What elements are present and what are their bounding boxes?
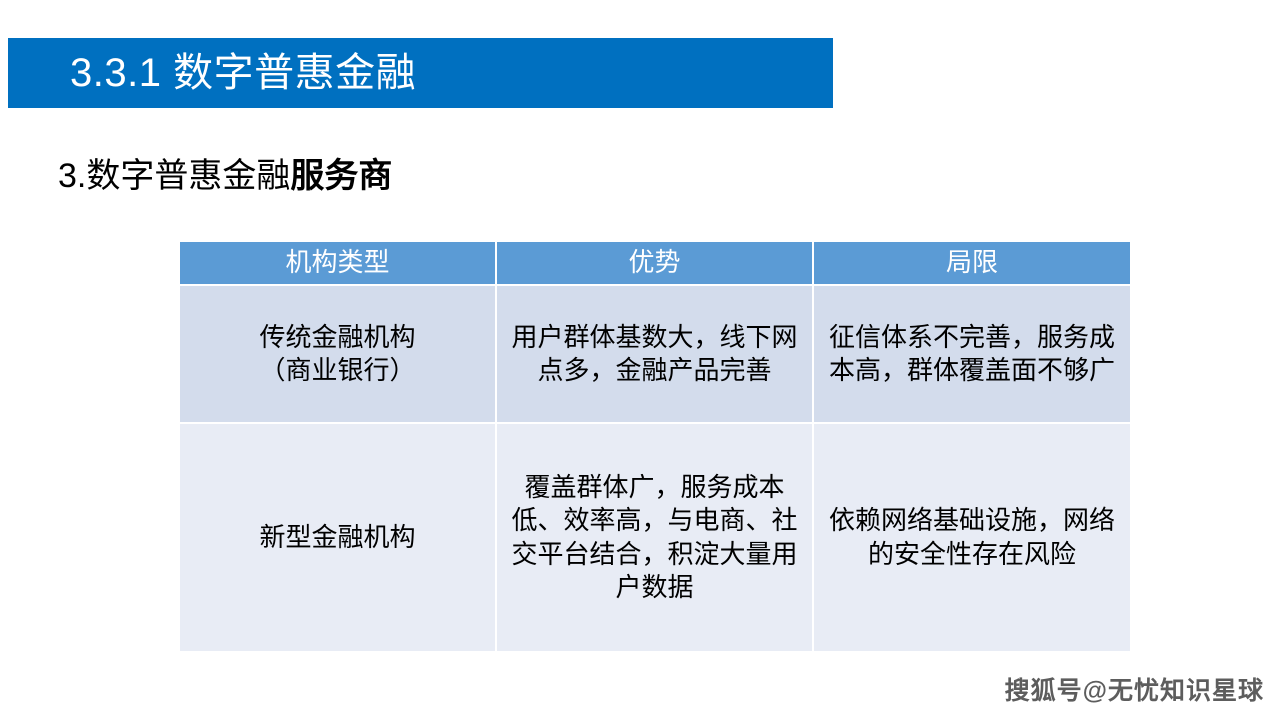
slide-canvas: 3.3.1 数字普惠金融 3.数字普惠金融服务商 机构类型 优势 局限 传统金融…	[0, 0, 1280, 720]
table-header-row: 机构类型 优势 局限	[179, 241, 1131, 285]
column-header-limitation: 局限	[813, 241, 1131, 285]
section-heading: 3.数字普惠金融服务商	[58, 158, 392, 195]
section-heading-normal: 3.数字普惠金融	[58, 157, 290, 195]
cell-text: 传统金融机构 （商业银行）	[190, 321, 485, 388]
table-header: 机构类型 优势 局限	[179, 241, 1131, 285]
cell-text: 征信体系不完善，服务成本高，群体覆盖面不够广	[824, 321, 1120, 388]
cell-advantage-traditional: 用户群体基数大，线下网点多，金融产品完善	[496, 285, 813, 423]
slide-title-text: 3.3.1 数字普惠金融	[70, 53, 416, 93]
cell-limitation-new: 依赖网络基础设施，网络的安全性存在风险	[813, 423, 1131, 652]
cell-text: 用户群体基数大，线下网点多，金融产品完善	[507, 321, 802, 388]
watermark: 搜狐号@无忧知识星球	[1005, 679, 1264, 704]
table-body: 传统金融机构 （商业银行） 用户群体基数大，线下网点多，金融产品完善 征信体系不…	[179, 285, 1131, 652]
cell-limitation-traditional: 征信体系不完善，服务成本高，群体覆盖面不够广	[813, 285, 1131, 423]
table-row: 新型金融机构 覆盖群体广，服务成本低、效率高，与电商、社交平台结合，积淀大量用户…	[179, 423, 1131, 652]
section-heading-bold: 服务商	[290, 157, 392, 195]
slide-title-banner: 3.3.1 数字普惠金融	[8, 38, 833, 108]
cell-institution-traditional: 传统金融机构 （商业银行）	[179, 285, 496, 423]
comparison-table: 机构类型 优势 局限 传统金融机构 （商业银行） 用户群体基数大，线下网点多，金…	[178, 240, 1132, 653]
cell-text: 覆盖群体广，服务成本低、效率高，与电商、社交平台结合，积淀大量用户数据	[507, 471, 802, 604]
table-row: 传统金融机构 （商业银行） 用户群体基数大，线下网点多，金融产品完善 征信体系不…	[179, 285, 1131, 423]
cell-advantage-new: 覆盖群体广，服务成本低、效率高，与电商、社交平台结合，积淀大量用户数据	[496, 423, 813, 652]
column-header-institution-type: 机构类型	[179, 241, 496, 285]
cell-text: 依赖网络基础设施，网络的安全性存在风险	[824, 504, 1120, 571]
cell-institution-new: 新型金融机构	[179, 423, 496, 652]
column-header-advantage: 优势	[496, 241, 813, 285]
cell-text: 新型金融机构	[190, 521, 485, 554]
